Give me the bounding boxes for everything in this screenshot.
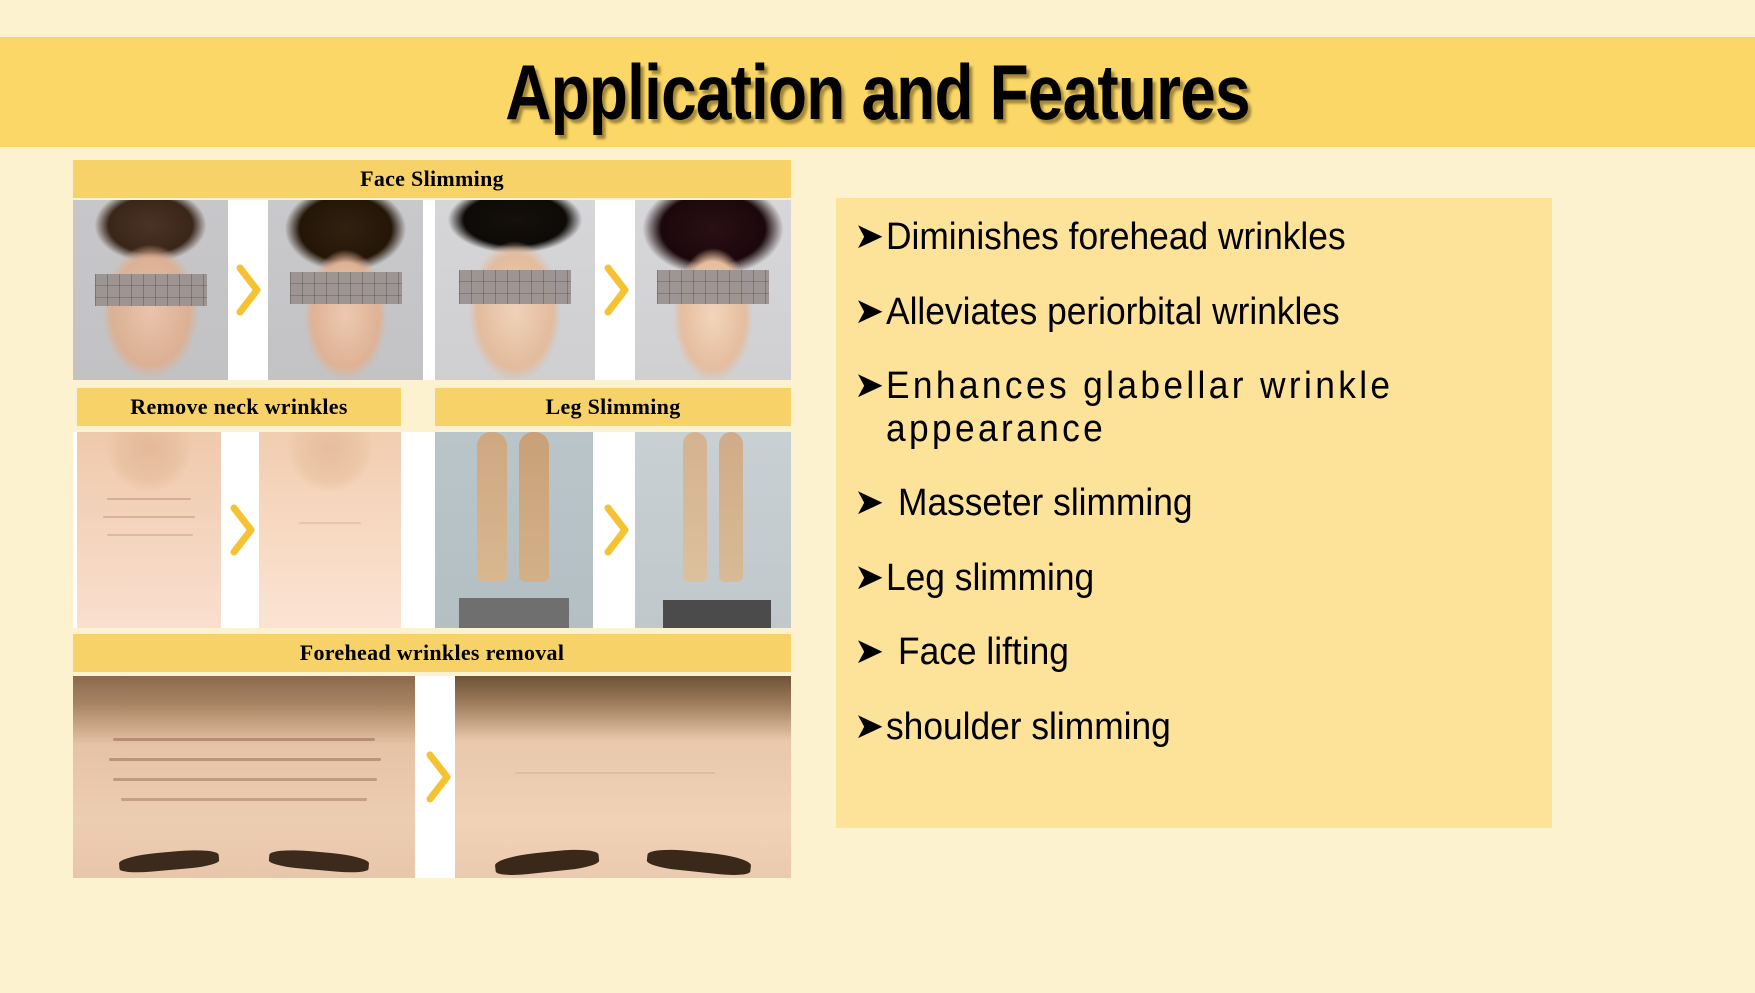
photo-row-face-slimming [73,200,791,380]
photo-face-after-2 [635,200,791,380]
before-after-pair [435,200,791,380]
privacy-mosaic [290,272,402,304]
photo-forehead-before-1 [73,676,415,878]
section-label-remove-neck-wrinkles: Remove neck wrinkles [77,388,401,426]
chevron-right-icon [601,503,631,557]
chevron-right-icon [233,263,263,317]
feature-label: Leg slimming [886,557,1490,600]
before-after-pair [77,432,401,628]
chevron-right-icon [423,750,453,804]
privacy-mosaic [459,270,571,304]
section-label-face-slimming: Face Slimming [73,160,791,198]
before-after-pair [435,432,791,628]
feature-item: ➤ Alleviates periorbital wrinkles [854,291,1536,334]
page-title: Application and Features [158,37,1597,147]
arrow-bullet-icon: ➤ [854,706,884,746]
feature-item: ➤ shoulder slimming [854,706,1536,749]
arrow-bullet-icon: ➤ [854,291,884,331]
chevron-right-icon [227,503,257,557]
arrow-bullet-icon: ➤ [854,365,884,405]
before-after-pair [73,676,791,878]
feature-label: shoulder slimming [886,706,1490,749]
photo-face-before-2 [435,200,595,380]
features-panel: ➤ Diminishes forehead wrinkles ➤ Allevia… [836,198,1552,828]
slide-root: Application and Features Face Slimming [0,0,1755,993]
feature-item: ➤ Leg slimming [854,557,1536,600]
feature-item: ➤ Diminishes forehead wrinkles [854,216,1536,259]
section-label-leg-slimming: Leg Slimming [435,388,791,426]
photo-neck-after-1 [259,432,401,628]
section-label-forehead-wrinkles-removal: Forehead wrinkles removal [73,634,791,672]
feature-label: Diminishes forehead wrinkles [886,216,1490,259]
feature-item: ➤ Face lifting [854,631,1536,674]
photo-leg-before-1 [435,432,593,628]
feature-item: ➤ Masseter slimming [854,482,1536,525]
feature-label: Face lifting [898,631,1491,674]
feature-label: Enhances glabellar wrinkle appearance [886,365,1490,450]
photo-neck-before-1 [77,432,221,628]
feature-label: Alleviates periorbital wrinkles [886,291,1490,334]
photo-leg-after-1 [635,432,791,628]
arrow-bullet-icon: ➤ [854,557,884,597]
chevron-right-icon [601,263,631,317]
feature-label: Masseter slimming [898,482,1491,525]
photo-row-forehead [73,676,791,878]
arrow-bullet-icon: ➤ [854,216,884,256]
privacy-mosaic [657,270,769,304]
arrow-bullet-icon: ➤ [854,482,884,522]
before-after-pair [73,200,423,380]
photo-face-after-1 [268,200,423,380]
top-strip [0,0,1755,6]
feature-item: ➤ Enhances glabellar wrinkle appearance [854,365,1536,450]
privacy-mosaic [95,274,207,306]
photo-row-neck-and-leg [73,432,791,628]
photo-forehead-after-1 [455,676,791,878]
before-after-gallery: Face Slimming [73,160,791,878]
photo-face-before-1 [73,200,228,380]
arrow-bullet-icon: ➤ [854,631,884,671]
